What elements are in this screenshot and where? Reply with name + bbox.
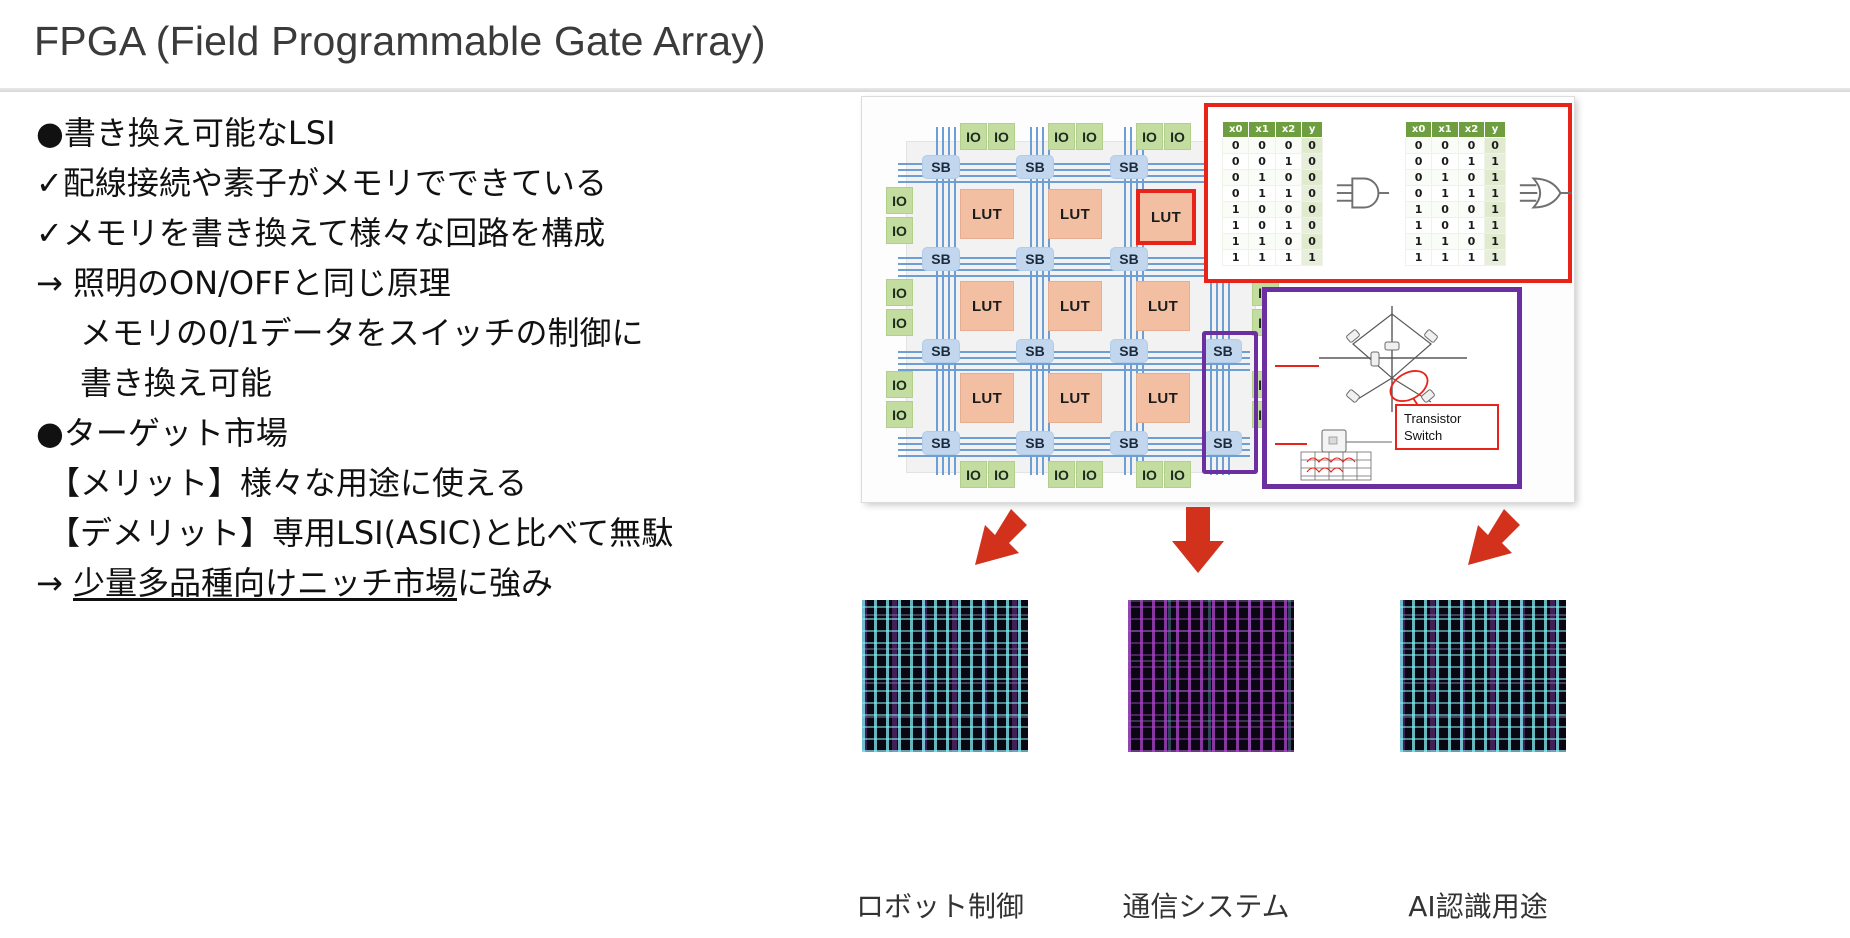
truth-table-input-cell: 0: [1432, 137, 1458, 153]
truth-table-input-cell: 1: [1432, 233, 1458, 249]
wire-vertical: [1130, 127, 1132, 475]
switch-block[interactable]: SB: [1016, 431, 1054, 455]
truth-table-input-cell: 0: [1432, 217, 1458, 233]
truth-table-output-cell: 1: [1302, 249, 1323, 265]
underlined-phrase: 少量多品種向けニッチ市場: [73, 564, 457, 602]
truth-table-input-cell: 0: [1275, 169, 1301, 185]
lut-block[interactable]: LUT: [960, 281, 1014, 331]
wire-horizontal: [898, 455, 1250, 457]
truth-table-row: 0100: [1223, 169, 1323, 185]
switch-block[interactable]: SB: [1016, 247, 1054, 271]
truth-table-input-cell: 0: [1223, 169, 1249, 185]
truth-table-header: x2: [1458, 121, 1484, 137]
title-divider: [0, 88, 1850, 92]
lut-block-selected[interactable]: LUT: [1136, 189, 1196, 245]
truth-table-row: 0101: [1405, 169, 1505, 185]
truth-table-input-cell: 1: [1275, 249, 1301, 265]
body-line: 書き換え可能: [36, 358, 796, 408]
truth-table-header: y: [1485, 121, 1506, 137]
wire-vertical: [1036, 127, 1038, 475]
wire-vertical: [948, 127, 950, 475]
io-block[interactable]: IO: [1048, 123, 1075, 150]
body-line: ✓配線接続や素子がメモリでできている: [36, 158, 796, 208]
lut-truth-table-card: x0x1x2y00000010010001101000101011001111 …: [1204, 103, 1572, 283]
truth-table-input-cell: 0: [1458, 137, 1484, 153]
fpga-chip-thumbnail: [1128, 600, 1294, 752]
and-gate-icon: [1333, 170, 1391, 216]
truth-table-input-cell: 0: [1405, 153, 1431, 169]
io-block[interactable]: IO: [960, 461, 987, 488]
truth-table-output-cell: 1: [1485, 249, 1506, 265]
truth-table-row: 0000: [1223, 137, 1323, 153]
truth-table-output-cell: 0: [1302, 233, 1323, 249]
io-block[interactable]: IO: [988, 123, 1015, 150]
io-block[interactable]: IO: [1076, 461, 1103, 488]
wire-vertical: [942, 127, 944, 475]
truth-table-header: y: [1302, 121, 1323, 137]
truth-table-input-cell: 1: [1249, 233, 1275, 249]
truth-table-output-cell: 1: [1485, 169, 1506, 185]
application-caption: ロボット制御: [830, 885, 1050, 925]
page-title: FPGA (Field Programmable Gate Array): [34, 18, 766, 65]
truth-table-row: 1101: [1405, 233, 1505, 249]
wire-horizontal: [898, 181, 1250, 183]
application-caption: 通信システム: [1096, 885, 1316, 925]
truth-table-output-cell: 1: [1485, 217, 1506, 233]
io-block[interactable]: IO: [1164, 123, 1191, 150]
switch-block[interactable]: SB: [1110, 155, 1148, 179]
truth-table-input-cell: 1: [1405, 201, 1431, 217]
truth-table-input-cell: 1: [1432, 185, 1458, 201]
fpga-chip-thumbnail: [862, 600, 1028, 752]
body-line: ●ターゲット市場: [36, 408, 796, 458]
truth-table-output-cell: 1: [1485, 153, 1506, 169]
truth-table-and: x0x1x2y00000010010001101000101011001111: [1222, 121, 1323, 266]
switch-block[interactable]: SB: [922, 155, 960, 179]
truth-table-output-cell: 0: [1302, 217, 1323, 233]
switch-block[interactable]: SB: [1110, 247, 1148, 271]
io-block[interactable]: IO: [1136, 123, 1163, 150]
truth-table-output-cell: 0: [1302, 169, 1323, 185]
io-block[interactable]: IO: [886, 371, 913, 398]
truth-table-row: 0000: [1405, 137, 1505, 153]
truth-table-input-cell: 1: [1275, 153, 1301, 169]
truth-table-input-cell: 0: [1275, 137, 1301, 153]
truth-table-row: 1111: [1405, 249, 1505, 265]
or-gate-unit: x0x1x2y00000011010101111001101111011111: [1391, 121, 1574, 266]
transistor-switch-card: Transistor Switch: [1262, 287, 1522, 489]
io-block[interactable]: IO: [960, 123, 987, 150]
switch-block[interactable]: SB: [922, 247, 960, 271]
io-block[interactable]: IO: [1076, 123, 1103, 150]
truth-table-row: 1111: [1223, 249, 1323, 265]
io-block[interactable]: IO: [886, 187, 913, 214]
truth-table-input-cell: 0: [1458, 169, 1484, 185]
truth-table-input-cell: 1: [1405, 249, 1431, 265]
or-gate-icon: [1516, 170, 1574, 216]
truth-table-input-cell: 0: [1405, 169, 1431, 185]
truth-table-input-cell: 0: [1275, 233, 1301, 249]
truth-table-input-cell: 1: [1405, 233, 1431, 249]
truth-table-input-cell: 1: [1223, 233, 1249, 249]
truth-table-input-cell: 0: [1249, 201, 1275, 217]
truth-table-input-cell: 1: [1275, 185, 1301, 201]
truth-table-input-cell: 0: [1458, 201, 1484, 217]
truth-table-row: 0011: [1405, 153, 1505, 169]
body-line-underlined: → 少量多品種向けニッチ市場に強み: [36, 558, 796, 608]
truth-table-input-cell: 0: [1275, 201, 1301, 217]
lut-block[interactable]: LUT: [1136, 373, 1190, 423]
truth-table-header: x1: [1249, 121, 1275, 137]
wire-horizontal: [898, 369, 1250, 371]
lut-block[interactable]: LUT: [1048, 281, 1102, 331]
fpga-architecture-panel: LUTLUTLUTLUTLUTLUTLUTLUTLUTSBSBSBSBSBSBS…: [862, 97, 1574, 502]
truth-table-input-cell: 0: [1249, 153, 1275, 169]
truth-table-input-cell: 0: [1458, 233, 1484, 249]
truth-table-row: 1100: [1223, 233, 1323, 249]
truth-table-input-cell: 0: [1432, 153, 1458, 169]
truth-table-header: x0: [1223, 121, 1249, 137]
io-block[interactable]: IO: [886, 217, 913, 244]
lut-block[interactable]: LUT: [1136, 281, 1190, 331]
body-line: メモリの0/1データをスイッチの制御に: [36, 308, 796, 358]
wire-horizontal: [898, 275, 1250, 277]
truth-table-output-cell: 0: [1302, 201, 1323, 217]
truth-table-output-cell: 1: [1485, 185, 1506, 201]
truth-table-header: x1: [1432, 121, 1458, 137]
wire-vertical: [1042, 127, 1044, 475]
switch-block[interactable]: SB: [1110, 339, 1148, 363]
truth-table-row: 1011: [1405, 217, 1505, 233]
truth-table-output-cell: 0: [1302, 185, 1323, 201]
callout-line-2: Switch: [1404, 427, 1497, 444]
truth-table-input-cell: 0: [1405, 185, 1431, 201]
lut-block[interactable]: LUT: [1048, 189, 1102, 239]
wire-vertical: [1124, 127, 1126, 475]
wire-vertical: [936, 127, 938, 475]
truth-table-input-cell: 1: [1249, 185, 1275, 201]
truth-table-output-cell: 0: [1485, 137, 1506, 153]
truth-table-input-cell: 1: [1432, 249, 1458, 265]
truth-table-input-cell: 1: [1458, 249, 1484, 265]
truth-table-row: 0110: [1223, 185, 1323, 201]
body-line: ✓メモリを書き換えて様々な回路を構成: [36, 208, 796, 258]
truth-table-input-cell: 1: [1223, 217, 1249, 233]
truth-table-output-cell: 1: [1485, 233, 1506, 249]
body-line: 【メリット】様々な用途に使える: [36, 458, 796, 508]
truth-table-input-cell: 0: [1223, 137, 1249, 153]
io-block[interactable]: IO: [1136, 461, 1163, 488]
truth-table-row: 0010: [1223, 153, 1323, 169]
io-block[interactable]: IO: [988, 461, 1015, 488]
io-block[interactable]: IO: [886, 309, 913, 336]
truth-table-input-cell: 0: [1249, 137, 1275, 153]
switch-block[interactable]: SB: [1110, 431, 1148, 455]
io-block[interactable]: IO: [1048, 461, 1075, 488]
truth-table-input-cell: 1: [1249, 249, 1275, 265]
body-line: 【デメリット】専用LSI(ASIC)と比べて無駄: [36, 508, 796, 558]
truth-table-input-cell: 0: [1223, 153, 1249, 169]
red-arrow-icon: [1448, 505, 1524, 577]
body-line: → 照明のON/OFFと同じ原理: [36, 258, 796, 308]
fpga-chip-thumbnail: [1400, 600, 1566, 752]
transistor-switch-callout: Transistor Switch: [1395, 404, 1499, 450]
truth-table-input-cell: 1: [1223, 249, 1249, 265]
truth-table-header: x0: [1405, 121, 1431, 137]
truth-table-input-cell: 1: [1249, 169, 1275, 185]
truth-table-input-cell: 1: [1432, 169, 1458, 185]
switch-block[interactable]: SB: [1016, 339, 1054, 363]
truth-table-row: 1000: [1223, 201, 1323, 217]
truth-table-input-cell: 1: [1458, 185, 1484, 201]
truth-table-output-cell: 1: [1485, 201, 1506, 217]
truth-table-input-cell: 1: [1275, 217, 1301, 233]
switch-block[interactable]: SB: [922, 431, 960, 455]
truth-table-output-cell: 0: [1302, 153, 1323, 169]
truth-table-or: x0x1x2y00000011010101111001101111011111: [1405, 121, 1506, 266]
and-gate-unit: x0x1x2y00000010010001101000101011001111: [1208, 121, 1391, 266]
body-line: ●書き換え可能なLSI: [36, 108, 796, 158]
wire-vertical: [1030, 127, 1032, 475]
red-arrow-icon: [1160, 505, 1236, 577]
truth-table-input-cell: 1: [1405, 217, 1431, 233]
lut-block[interactable]: LUT: [1048, 373, 1102, 423]
io-block[interactable]: IO: [1164, 461, 1191, 488]
lut-block[interactable]: LUT: [960, 189, 1014, 239]
truth-table-input-cell: 0: [1249, 217, 1275, 233]
truth-table-input-cell: 0: [1405, 137, 1431, 153]
io-block[interactable]: IO: [886, 401, 913, 428]
truth-table-input-cell: 0: [1223, 185, 1249, 201]
truth-table-header: x2: [1275, 121, 1301, 137]
truth-table-row: 1001: [1405, 201, 1505, 217]
application-caption: AI認識用途: [1368, 885, 1588, 925]
lut-block[interactable]: LUT: [960, 373, 1014, 423]
wire-vertical: [954, 127, 956, 475]
truth-table-input-cell: 0: [1432, 201, 1458, 217]
wire-horizontal: [898, 363, 1250, 365]
truth-table-row: 1010: [1223, 217, 1323, 233]
io-block[interactable]: IO: [886, 279, 913, 306]
truth-table-input-cell: 1: [1223, 201, 1249, 217]
truth-table-input-cell: 1: [1458, 217, 1484, 233]
truth-table-input-cell: 1: [1458, 153, 1484, 169]
callout-line-1: Transistor: [1404, 410, 1497, 427]
switchbox-column-highlight: [1202, 331, 1258, 474]
switch-block[interactable]: SB: [1016, 155, 1054, 179]
truth-table-output-cell: 0: [1302, 137, 1323, 153]
truth-table-row: 0111: [1405, 185, 1505, 201]
switchbox-schematic: [1267, 292, 1517, 484]
body-text-block: ●書き換え可能なLSI ✓配線接続や素子がメモリでできている ✓メモリを書き換え…: [36, 108, 796, 608]
switch-block[interactable]: SB: [922, 339, 960, 363]
red-arrow-icon: [955, 505, 1031, 577]
